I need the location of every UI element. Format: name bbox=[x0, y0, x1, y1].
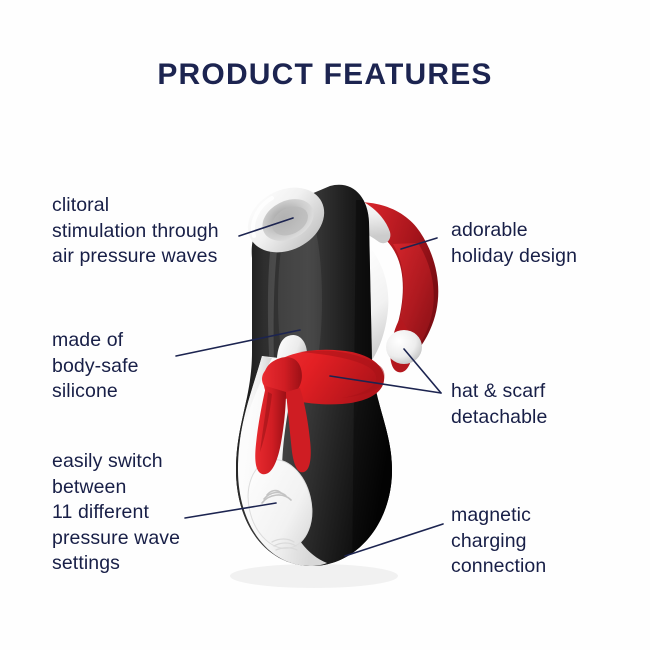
feature-label-clitoral-stimulation: clitoral stimulation through air pressur… bbox=[52, 193, 272, 270]
feature-label-magnetic-charging: magnetic charging connection bbox=[451, 503, 631, 580]
feature-label-pressure-wave-settings: easily switch between 11 different press… bbox=[52, 449, 242, 577]
feature-label-hat-scarf-detachable: hat & scarf detachable bbox=[451, 379, 631, 430]
feature-label-body-safe-silicone: made of body-safe silicone bbox=[52, 328, 222, 405]
hat-pompom bbox=[386, 330, 422, 364]
product-shadow bbox=[230, 564, 398, 588]
feature-label-holiday-design: adorable holiday design bbox=[451, 218, 631, 269]
product-features-diagram: PRODUCT FEATURES bbox=[0, 0, 650, 650]
